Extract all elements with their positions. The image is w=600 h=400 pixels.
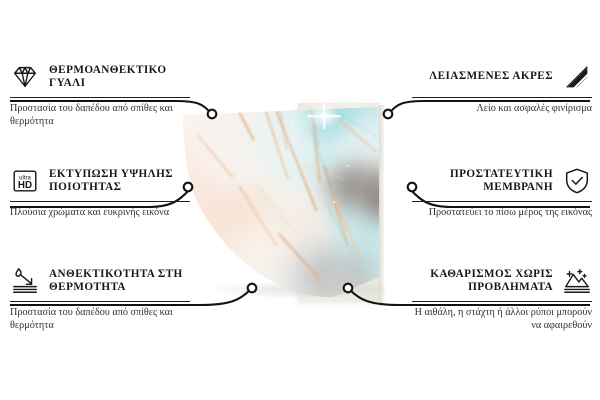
product-image	[175, 95, 425, 320]
feature-heat-durability: ΑΝΘΕΚΤΙΚΟΤΗΤΑ ΣΤΗ ΘΕΡΜΟΤΗΤΑ Προστασία το…	[10, 264, 190, 333]
feature-header: ultra HD ΕΚΤΥΠΩΣΗ ΥΨΗΛΗΣ ΠΟΙΟΤΗΤΑΣ	[10, 164, 190, 198]
ultra-hd-icon: ultra HD	[10, 166, 40, 196]
diamond-gem-icon	[10, 62, 40, 92]
smooth-edges-stripes-icon	[562, 62, 592, 92]
feature-description: Προστασία του δαπέδου από σπίθες και θερ…	[10, 103, 190, 129]
feature-description: Προστατεύει το πίσω μέρος της εικόνας	[412, 207, 592, 220]
feature-title: ΕΚΤΥΠΩΣΗ ΥΨΗΛΗΣ ΠΟΙΟΤΗΤΑΣ	[49, 168, 190, 195]
feature-description: Λείο και ασφαλές φινίρισμα	[412, 103, 592, 116]
feature-divider	[412, 201, 592, 202]
feature-smooth-edges: ΛΕΙΑΣΜΕΝΕΣ ΑΚΡΕΣ Λείο και ασφαλές φινίρι…	[412, 60, 592, 116]
feature-header: ΘΕΡΜΟΑΝΘΕΚΤΙΚΟ ΓΥΑΛΙ	[10, 60, 190, 94]
feature-header: ΠΡΟΣΤΑΤΕΥΤΙΚΗ ΜΕΜΒΡΑΝΗ	[412, 164, 592, 198]
hd-label: HD	[18, 180, 32, 191]
feature-title: ΠΡΟΣΤΑΤΕΥΤΙΚΗ ΜΕΜΒΡΑΝΗ	[412, 168, 553, 195]
feature-description: Η αιθάλη, η στάχτη ή άλλοι ρύποι μπορούν…	[412, 307, 592, 333]
easy-cleaning-sparkle-icon	[562, 266, 592, 296]
glass-panel	[183, 105, 383, 305]
feature-header: ΛΕΙΑΣΜΕΝΕΣ ΑΚΡΕΣ	[412, 60, 592, 94]
feature-divider	[10, 301, 190, 302]
feature-protective-membrane: ΠΡΟΣΤΑΤΕΥΤΙΚΗ ΜΕΜΒΡΑΝΗ Προστατεύει το πί…	[412, 164, 592, 220]
feature-divider	[412, 97, 592, 98]
feature-title: ΚΑΘΑΡΙΣΜΟΣ ΧΩΡΙΣ ΠΡΟΒΛΗΜΑΤΑ	[412, 268, 553, 295]
marble-artwork	[183, 105, 383, 305]
feature-easy-cleaning: ΚΑΘΑΡΙΣΜΟΣ ΧΩΡΙΣ ΠΡΟΒΛΗΜΑΤΑ Η αιθάλη, η …	[412, 264, 592, 333]
feature-description: Προστασία του δαπέδου από σπίθες και θερ…	[10, 307, 190, 333]
heat-resistance-flame-icon	[10, 266, 40, 296]
feature-divider	[10, 97, 190, 98]
feature-header: ΚΑΘΑΡΙΣΜΟΣ ΧΩΡΙΣ ΠΡΟΒΛΗΜΑΤΑ	[412, 264, 592, 298]
feature-divider	[412, 301, 592, 302]
feature-title: ΘΕΡΜΟΑΝΘΕΚΤΙΚΟ ΓΥΑΛΙ	[49, 64, 190, 91]
feature-description: Πλούσια χρώματα και ευκρινής εικόνα	[10, 207, 190, 220]
feature-header: ΑΝΘΕΚΤΙΚΟΤΗΤΑ ΣΤΗ ΘΕΡΜΟΤΗΤΑ	[10, 264, 190, 298]
feature-heat-resistant-glass: ΘΕΡΜΟΑΝΘΕΚΤΙΚΟ ΓΥΑΛΙ Προστασία του δαπέδ…	[10, 60, 190, 129]
feature-divider	[10, 201, 190, 202]
feature-high-quality-print: ultra HD ΕΚΤΥΠΩΣΗ ΥΨΗΛΗΣ ΠΟΙΟΤΗΤΑΣ Πλούσ…	[10, 164, 190, 220]
feature-title: ΛΕΙΑΣΜΕΝΕΣ ΑΚΡΕΣ	[412, 70, 553, 83]
feature-title: ΑΝΘΕΚΤΙΚΟΤΗΤΑ ΣΤΗ ΘΕΡΜΟΤΗΤΑ	[49, 268, 190, 295]
shield-check-icon	[562, 166, 592, 196]
infographic-canvas: ΘΕΡΜΟΑΝΘΕΚΤΙΚΟ ΓΥΑΛΙ Προστασία του δαπέδ…	[0, 0, 600, 400]
